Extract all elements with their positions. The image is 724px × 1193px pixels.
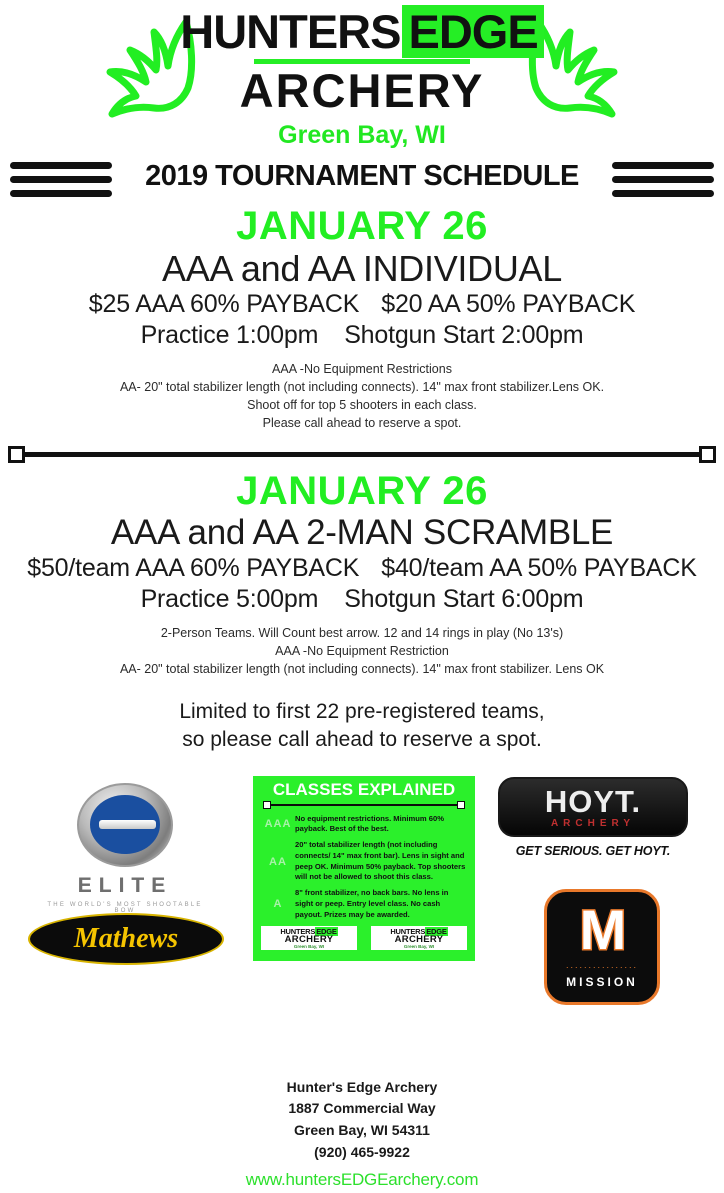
fine-print-line: AA- 20" total stabilizer length (not inc… (0, 660, 724, 678)
start-time: Shotgun Start 6:00pm (344, 585, 583, 613)
sponsor-elite-logo: ELITE THE WORLD'S MOST SHOOTABLE BOW (42, 783, 208, 914)
fine-print-line: Please call ahead to reserve a spot. (0, 414, 724, 432)
event-fine-print: 2-Person Teams. Will Count best arrow. 1… (0, 624, 724, 678)
class-description: No equipment restrictions. Minimum 60% p… (295, 814, 467, 836)
section-divider (0, 441, 724, 467)
class-row-aaa: AAA No equipment restrictions. Minimum 6… (261, 814, 467, 836)
payback-left: $50/team AAA 60% PAYBACK (27, 554, 359, 582)
elite-emblem-icon (77, 783, 173, 867)
event-times-row: Practice 5:00pmShotgun Start 6:00pm (0, 584, 724, 615)
bars-left-icon (10, 162, 112, 204)
payback-left: $25 AAA 60% PAYBACK (89, 290, 359, 318)
class-row-a: A 8" front stabilizer, no back bars. No … (261, 888, 467, 920)
class-key: AA (261, 856, 295, 868)
sponsors-and-classes: ELITE THE WORLD'S MOST SHOOTABLE BOW Mat… (0, 771, 724, 1071)
sponsor-hoyt-logo: HOYT. ARCHERY GET SERIOUS. GET HOYT. (498, 777, 688, 858)
brand-edge: EDGE (402, 5, 543, 58)
mathews-wordmark: Mathews (74, 923, 178, 955)
event-individual: JANUARY 26 AAA and AA INDIVIDUAL $25 AAA… (0, 204, 724, 433)
fine-print-line: 2-Person Teams. Will Count best arrow. 1… (0, 624, 724, 642)
class-description: 8" front stabilizer, no back bars. No le… (295, 888, 467, 920)
payback-right: $20 AA 50% PAYBACK (381, 290, 635, 318)
fine-print-line: Shoot off for top 5 shooters in each cla… (0, 396, 724, 414)
event-date: JANUARY 26 (0, 469, 724, 514)
business-name: Hunter's Edge Archery (0, 1077, 724, 1099)
start-time: Shotgun Start 2:00pm (344, 321, 583, 349)
hoyt-tagline: GET SERIOUS. GET HOYT. (498, 844, 688, 858)
mission-m-icon: M (547, 908, 657, 953)
brand-wordmark: HUNTERSEDGE ARCHERY Green Bay, WI (0, 8, 724, 150)
brand-city: Green Bay, WI (0, 121, 724, 150)
divider-cap-right (699, 446, 716, 463)
classes-divider-cap-left (263, 801, 271, 809)
event-payback-row: $25 AAA 60% PAYBACK$20 AA 50% PAYBACK (0, 289, 724, 320)
elite-tagline: THE WORLD'S MOST SHOOTABLE BOW (42, 902, 208, 914)
practice-time: Practice 5:00pm (141, 585, 319, 613)
bars-right-icon (612, 162, 714, 204)
classes-title: CLASSES EXPLAINED (261, 781, 467, 799)
registration-limit-note: Limited to first 22 pre-registered teams… (0, 698, 724, 755)
mission-dots: ................ (547, 960, 657, 970)
event-date: JANUARY 26 (0, 204, 724, 249)
divider-rail (16, 452, 708, 457)
classes-divider-cap-right (457, 801, 465, 809)
classes-explained-box: CLASSES EXPLAINED AAA No equipment restr… (253, 776, 475, 961)
flyer-page: HUNTERSEDGE ARCHERY Green Bay, WI 2019 T… (0, 0, 724, 1024)
hoyt-wordmark: HOYT. (506, 787, 680, 816)
event-payback-row: $50/team AAA 60% PAYBACK$40/team AA 50% … (0, 553, 724, 584)
class-row-aa: AA 20" total stabilizer length (not incl… (261, 840, 467, 883)
mini-logo-line3: Green Bay, WI (371, 945, 467, 950)
event-scramble: JANUARY 26 AAA and AA 2-MAN SCRAMBLE $50… (0, 469, 724, 678)
fine-print-line: AAA -No Equipment Restriction (0, 642, 724, 660)
website-link[interactable]: www.huntersEDGEarchery.com (0, 1167, 724, 1193)
street-address: 1887 Commercial Way (0, 1098, 724, 1120)
elite-wordmark: ELITE (42, 874, 208, 898)
fine-print-line: AAA -No Equipment Restrictions (0, 360, 724, 378)
hoyt-badge: HOYT. ARCHERY (498, 777, 688, 837)
limit-line-1: Limited to first 22 pre-registered teams… (0, 698, 724, 726)
limit-line-2: so please call ahead to reserve a spot. (0, 726, 724, 754)
mini-logo-line3: Green Bay, WI (261, 945, 357, 950)
mini-brand-logo: HUNTERSEDGE ARCHERY Green Bay, WI (371, 926, 467, 951)
classes-divider-rail (269, 804, 459, 806)
event-title: AAA and AA 2-MAN SCRAMBLE (0, 513, 724, 552)
mission-wordmark: MISSION (547, 975, 657, 989)
brand-name-line1: HUNTERSEDGE (0, 8, 724, 55)
payback-right: $40/team AA 50% PAYBACK (381, 554, 697, 582)
city-state-zip: Green Bay, WI 54311 (0, 1120, 724, 1142)
event-title: AAA and AA INDIVIDUAL (0, 249, 724, 289)
mini-brand-logo: HUNTERSEDGE ARCHERY Green Bay, WI (261, 926, 357, 951)
practice-time: Practice 1:00pm (141, 321, 319, 349)
class-description: 20" total stabilizer length (not includi… (295, 840, 467, 883)
classes-mini-logos: HUNTERSEDGE ARCHERY Green Bay, WI HUNTER… (261, 926, 467, 951)
classes-divider (263, 800, 465, 811)
brand-logo: HUNTERSEDGE ARCHERY Green Bay, WI (0, 0, 724, 150)
class-key: AAA (261, 818, 295, 830)
contact-footer: Hunter's Edge Archery 1887 Commercial Wa… (0, 1077, 724, 1193)
event-times-row: Practice 1:00pmShotgun Start 2:00pm (0, 320, 724, 351)
sponsor-mission-logo: M ................ MISSION (544, 889, 660, 1005)
fine-print-line: AA- 20" total stabilizer length (not inc… (0, 378, 724, 396)
hoyt-subtitle: ARCHERY (506, 818, 680, 829)
event-fine-print: AAA -No Equipment Restrictions AA- 20" t… (0, 360, 724, 433)
phone-number: (920) 465-9922 (0, 1142, 724, 1164)
schedule-title-row: 2019 TOURNAMENT SCHEDULE (0, 152, 724, 204)
brand-hunters: HUNTERS (180, 5, 400, 58)
class-key: A (261, 898, 295, 910)
sponsor-mathews-logo: Mathews (28, 913, 224, 965)
brand-name-line2: ARCHERY (0, 66, 724, 115)
divider-cap-left (8, 446, 25, 463)
